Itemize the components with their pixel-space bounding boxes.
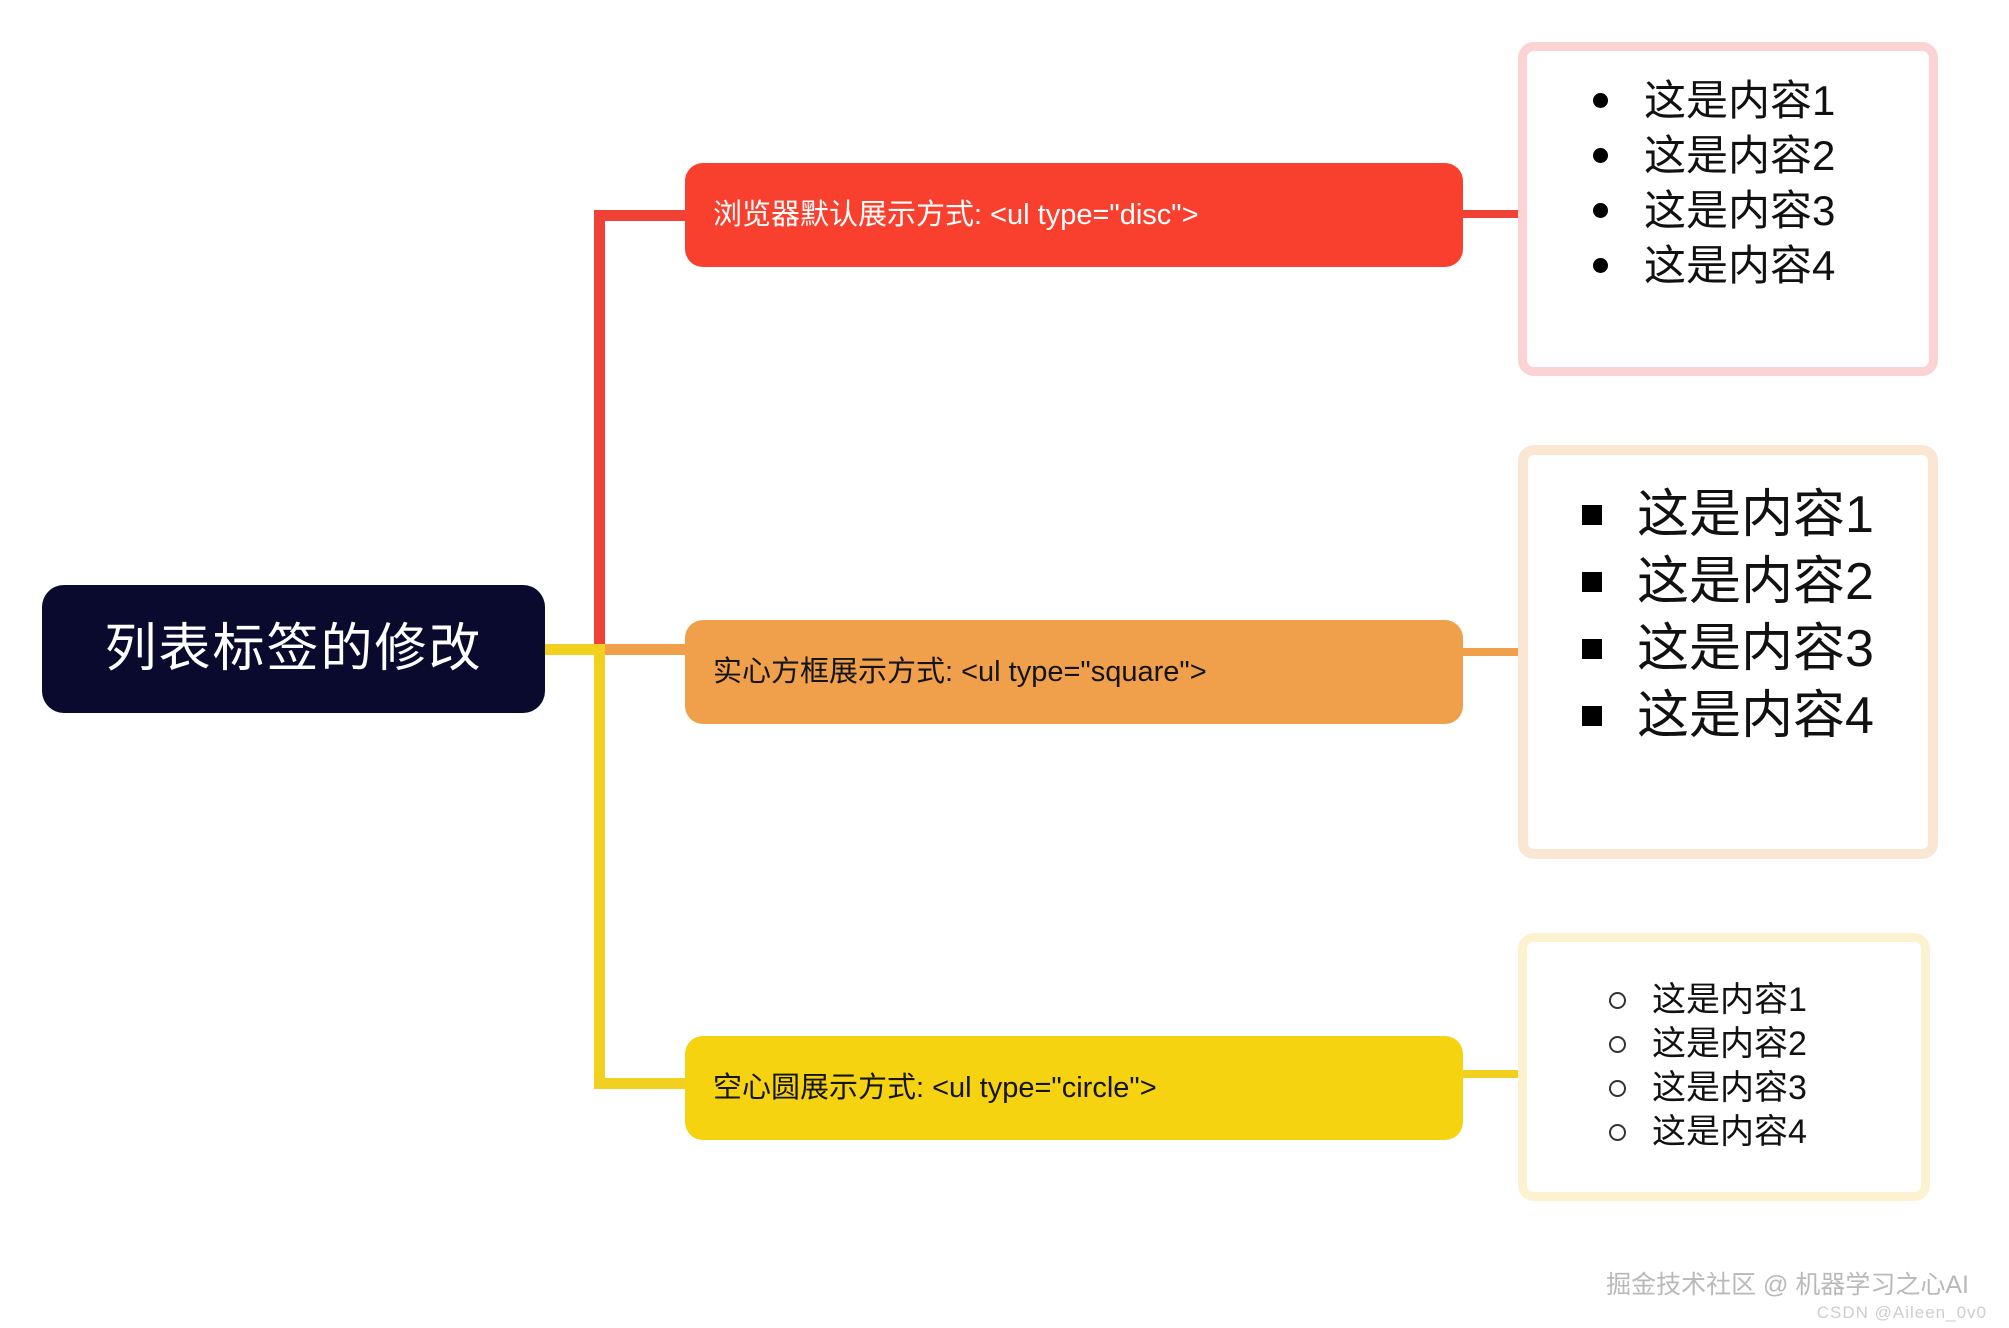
list-item-label: 这是内容1	[1652, 983, 1807, 1017]
filled-square-bullet-icon	[1582, 572, 1602, 592]
list-item-label: 这是内容4	[1644, 245, 1835, 287]
list-item: 这是内容4	[1582, 682, 1928, 749]
root-node-label: 列表标签的修改	[104, 623, 482, 675]
filled-square-bullet-icon	[1582, 706, 1602, 726]
list-item: 这是内容2	[1582, 548, 1928, 615]
list-item-label: 这是内容2	[1644, 135, 1835, 177]
list-item: 这是内容1	[1609, 978, 1921, 1022]
watermark-csdn: CSDN @Aileen_0v0	[1817, 1303, 1987, 1323]
connector-disc-vertical	[594, 210, 605, 652]
list-item-label: 这是内容2	[1652, 1027, 1807, 1061]
watermark-juejin: 掘金技术社区 @ 机器学习之心AI	[1606, 1265, 1969, 1301]
hollow-circle-bullet-icon	[1609, 992, 1626, 1009]
mindmap-canvas: 列表标签的修改 浏览器默认展示方式: <ul type="disc"> 实心方框…	[0, 0, 2009, 1328]
connector-circle-horizontal	[594, 1078, 694, 1089]
list-item: 这是内容1	[1582, 481, 1928, 548]
result-panel-square: 这是内容1 这是内容2 这是内容3 这是内容4	[1518, 445, 1938, 859]
square-list: 这是内容1 这是内容2 这是内容3 这是内容4	[1582, 481, 1928, 749]
list-item: 这是内容4	[1593, 238, 1929, 293]
branch-node-circle[interactable]: 空心圆展示方式: <ul type="circle">	[685, 1036, 1463, 1140]
connector-disc-horizontal	[594, 210, 690, 221]
filled-disc-bullet-icon	[1593, 148, 1608, 163]
branch-node-circle-label: 空心圆展示方式: <ul type="circle">	[713, 1074, 1157, 1103]
list-item-label: 这是内容4	[1637, 690, 1874, 742]
filled-disc-bullet-icon	[1593, 93, 1608, 108]
filled-square-bullet-icon	[1582, 639, 1602, 659]
circle-list: 这是内容1 这是内容2 这是内容3 这是内容4	[1609, 978, 1921, 1154]
list-item-label: 这是内容1	[1637, 489, 1874, 541]
hollow-circle-bullet-icon	[1609, 1036, 1626, 1053]
list-item: 这是内容3	[1593, 183, 1929, 238]
connector-circle-to-panel	[1457, 1070, 1523, 1078]
connector-square-to-panel	[1457, 648, 1523, 656]
list-item: 这是内容1	[1593, 73, 1929, 128]
list-item: 这是内容3	[1609, 1066, 1921, 1110]
filled-square-bullet-icon	[1582, 505, 1602, 525]
hollow-circle-bullet-icon	[1609, 1080, 1626, 1097]
list-item-label: 这是内容4	[1652, 1115, 1807, 1149]
disc-list: 这是内容1 这是内容2 这是内容3 这是内容4	[1593, 73, 1929, 293]
branch-node-square[interactable]: 实心方框展示方式: <ul type="square">	[685, 620, 1463, 724]
result-panel-disc: 这是内容1 这是内容2 这是内容3 这是内容4	[1518, 42, 1938, 376]
filled-disc-bullet-icon	[1593, 258, 1608, 273]
root-node[interactable]: 列表标签的修改	[42, 585, 545, 713]
branch-node-disc[interactable]: 浏览器默认展示方式: <ul type="disc">	[685, 163, 1463, 267]
list-item: 这是内容2	[1609, 1022, 1921, 1066]
list-item: 这是内容2	[1593, 128, 1929, 183]
branch-node-square-label: 实心方框展示方式: <ul type="square">	[713, 658, 1207, 687]
connector-disc-to-panel	[1457, 210, 1523, 218]
list-item: 这是内容3	[1582, 615, 1928, 682]
filled-disc-bullet-icon	[1593, 203, 1608, 218]
list-item-label: 这是内容3	[1637, 623, 1874, 675]
hollow-circle-bullet-icon	[1609, 1124, 1626, 1141]
list-item-label: 这是内容2	[1637, 556, 1874, 608]
list-item-label: 这是内容3	[1652, 1071, 1807, 1105]
branch-node-disc-label: 浏览器默认展示方式: <ul type="disc">	[713, 201, 1199, 230]
result-panel-circle: 这是内容1 这是内容2 这是内容3 这是内容4	[1518, 933, 1930, 1201]
list-item: 这是内容4	[1609, 1110, 1921, 1154]
list-item-label: 这是内容3	[1644, 190, 1835, 232]
connector-circle-vertical	[594, 644, 605, 1089]
list-item-label: 这是内容1	[1644, 80, 1835, 122]
